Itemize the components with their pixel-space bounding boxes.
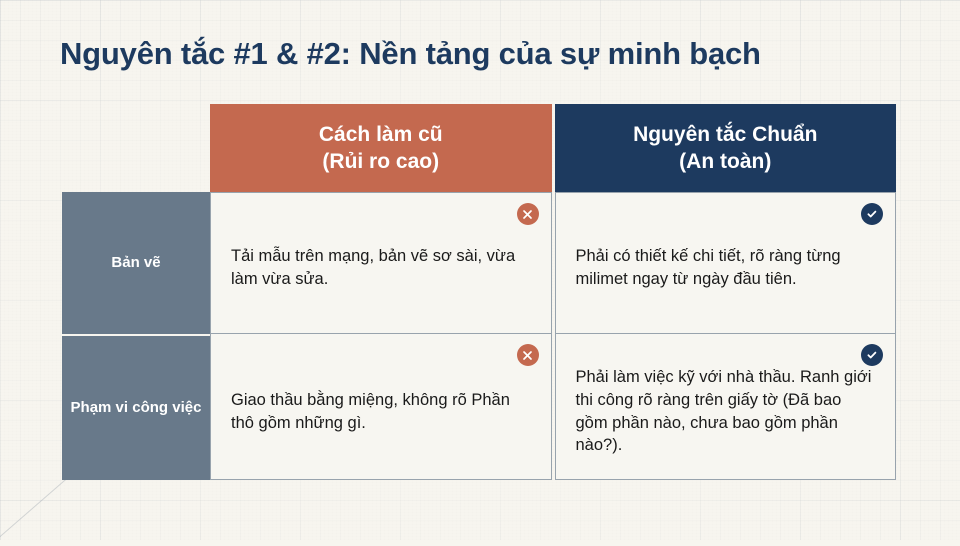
- cell-standard-ban-ve: Phải có thiết kế chi tiết, rõ ràng từng …: [555, 192, 897, 334]
- slide-canvas: Nguyên tắc #1 & #2: Nền tảng của sự minh…: [0, 0, 960, 540]
- header-label-spacer: [62, 104, 210, 192]
- column-header-old-way-title: Cách làm cũ: [319, 121, 443, 148]
- cell-standard-ban-ve-text: Phải có thiết kế chi tiết, rõ ràng từng …: [576, 245, 876, 291]
- column-header-standard-title: Nguyên tắc Chuẩn: [633, 121, 817, 148]
- cross-icon: [517, 203, 539, 225]
- cell-standard-pham-vi-text: Phải làm việc kỹ với nhà thầu. Ranh giới…: [576, 366, 876, 457]
- table-row: Phạm vi công việc Giao thầu bằng miệng, …: [62, 334, 896, 480]
- cell-old-way-ban-ve: Tải mẫu trên mạng, bản vẽ sơ sài, vừa là…: [210, 192, 552, 334]
- cross-icon: [517, 344, 539, 366]
- cell-old-way-ban-ve-text: Tải mẫu trên mạng, bản vẽ sơ sài, vừa là…: [231, 245, 531, 291]
- check-icon: [861, 344, 883, 366]
- table-header-row: Cách làm cũ (Rủi ro cao) Nguyên tắc Chuẩ…: [62, 104, 896, 192]
- table-row: Bản vẽ Tải mẫu trên mạng, bản vẽ sơ sài,…: [62, 192, 896, 334]
- row-label-pham-vi-cong-viec: Phạm vi công việc: [62, 334, 210, 480]
- cell-old-way-pham-vi-text: Giao thầu bằng miệng, không rõ Phần thô …: [231, 389, 531, 435]
- column-header-old-way-subtitle: (Rủi ro cao): [322, 148, 439, 175]
- cell-old-way-pham-vi: Giao thầu bằng miệng, không rõ Phần thô …: [210, 334, 552, 480]
- check-icon: [861, 203, 883, 225]
- column-header-standard: Nguyên tắc Chuẩn (An toàn): [555, 104, 897, 192]
- comparison-table: Cách làm cũ (Rủi ro cao) Nguyên tắc Chuẩ…: [62, 104, 896, 488]
- column-header-standard-subtitle: (An toàn): [679, 148, 771, 175]
- cell-standard-pham-vi: Phải làm việc kỹ với nhà thầu. Ranh giới…: [555, 334, 897, 480]
- page-title: Nguyên tắc #1 & #2: Nền tảng của sự minh…: [60, 36, 761, 72]
- row-label-ban-ve: Bản vẽ: [62, 192, 210, 334]
- column-header-old-way: Cách làm cũ (Rủi ro cao): [210, 104, 552, 192]
